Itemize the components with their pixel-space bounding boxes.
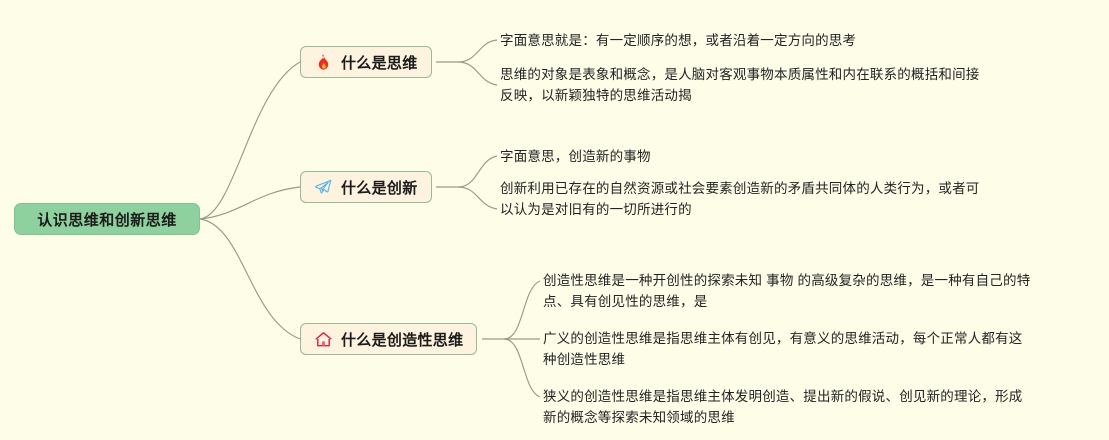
leaf-node[interactable]: 字面意思，创造新的事物: [500, 146, 651, 167]
edge-branch-2-leaf-2: [504, 339, 540, 397]
leaf-node[interactable]: 创造性思维是一种开创性的探索未知 事物 的高级复杂的思维，是一种有自己的特 点、…: [543, 270, 1030, 312]
leaf-node[interactable]: 字面意思就是：有一定顺序的想，或者沿着一定方向的思考: [500, 30, 856, 51]
leaf-node[interactable]: 创新利用已存在的自然资源或社会要素创造新的矛盾共同体的人类行为，或者可 以认为是…: [500, 178, 980, 220]
edge-branch-0-leaf-0: [458, 40, 497, 62]
edge-branch-1-leaf-0: [458, 156, 497, 187]
branch-node-label: 什么是创造性思维: [341, 329, 463, 350]
house-icon: [314, 330, 333, 349]
root-node-label: 认识思维和创新思维: [37, 209, 177, 230]
mindmap-canvas: 认识思维和创新思维 什么是思维 什么是创新 什么是创造性思维: [0, 0, 1109, 440]
leaf-node[interactable]: 广义的创造性思维是指思维主体有创见，有意义的思维活动，每个正常人都有这 种创造性…: [543, 328, 1023, 370]
edge-branch-0-leaf-1: [458, 62, 497, 85]
leaf-line: 字面意思，创造新的事物: [500, 146, 651, 167]
branch-node-label: 什么是创新: [341, 177, 418, 198]
leaf-line: 狭义的创造性思维是指思维主体发明创造、提出新的假说、创见新的理论，形成: [543, 386, 1023, 407]
leaf-line: 思维的对象是表象和概念，是人脑对客观事物本质属性和内在联系的概括和间接: [500, 64, 980, 85]
leaf-line: 以认为是对旧有的一切所进行的: [500, 199, 980, 220]
leaf-line: 字面意思就是：有一定顺序的想，或者沿着一定方向的思考: [500, 30, 856, 51]
leaf-line: 创造性思维是一种开创性的探索未知 事物 的高级复杂的思维，是一种有自己的特: [543, 270, 1030, 291]
leaf-line: 创新利用已存在的自然资源或社会要素创造新的矛盾共同体的人类行为，或者可: [500, 178, 980, 199]
leaf-line: 点、具有创见性的思维，是: [543, 291, 1030, 312]
edge-root-branch-0: [200, 62, 300, 219]
edge-root-branch-2: [200, 219, 300, 339]
leaf-line: 新的概念等探索未知领域的思维: [543, 407, 1023, 428]
leaf-node[interactable]: 狭义的创造性思维是指思维主体发明创造、提出新的假说、创见新的理论，形成 新的概念…: [543, 386, 1023, 428]
edge-branch-1-leaf-1: [458, 187, 497, 209]
leaf-line: 种创造性思维: [543, 349, 1023, 370]
branch-node-what-is-thinking[interactable]: 什么是思维: [300, 46, 432, 78]
edge-root-branch-1: [200, 187, 300, 219]
paper-plane-icon: [314, 178, 333, 197]
flame-icon: [314, 53, 333, 72]
leaf-node[interactable]: 思维的对象是表象和概念，是人脑对客观事物本质属性和内在联系的概括和间接 反映，以…: [500, 64, 980, 106]
branch-node-what-is-creative-thinking[interactable]: 什么是创造性思维: [300, 323, 477, 355]
leaf-line: 反映，以新颖独特的思维活动揭: [500, 85, 980, 106]
branch-node-label: 什么是思维: [341, 52, 418, 73]
edge-branch-2-leaf-0: [504, 281, 540, 339]
root-node[interactable]: 认识思维和创新思维: [14, 203, 200, 235]
branch-node-what-is-innovation[interactable]: 什么是创新: [300, 171, 432, 203]
leaf-line: 广义的创造性思维是指思维主体有创见，有意义的思维活动，每个正常人都有这: [543, 328, 1023, 349]
